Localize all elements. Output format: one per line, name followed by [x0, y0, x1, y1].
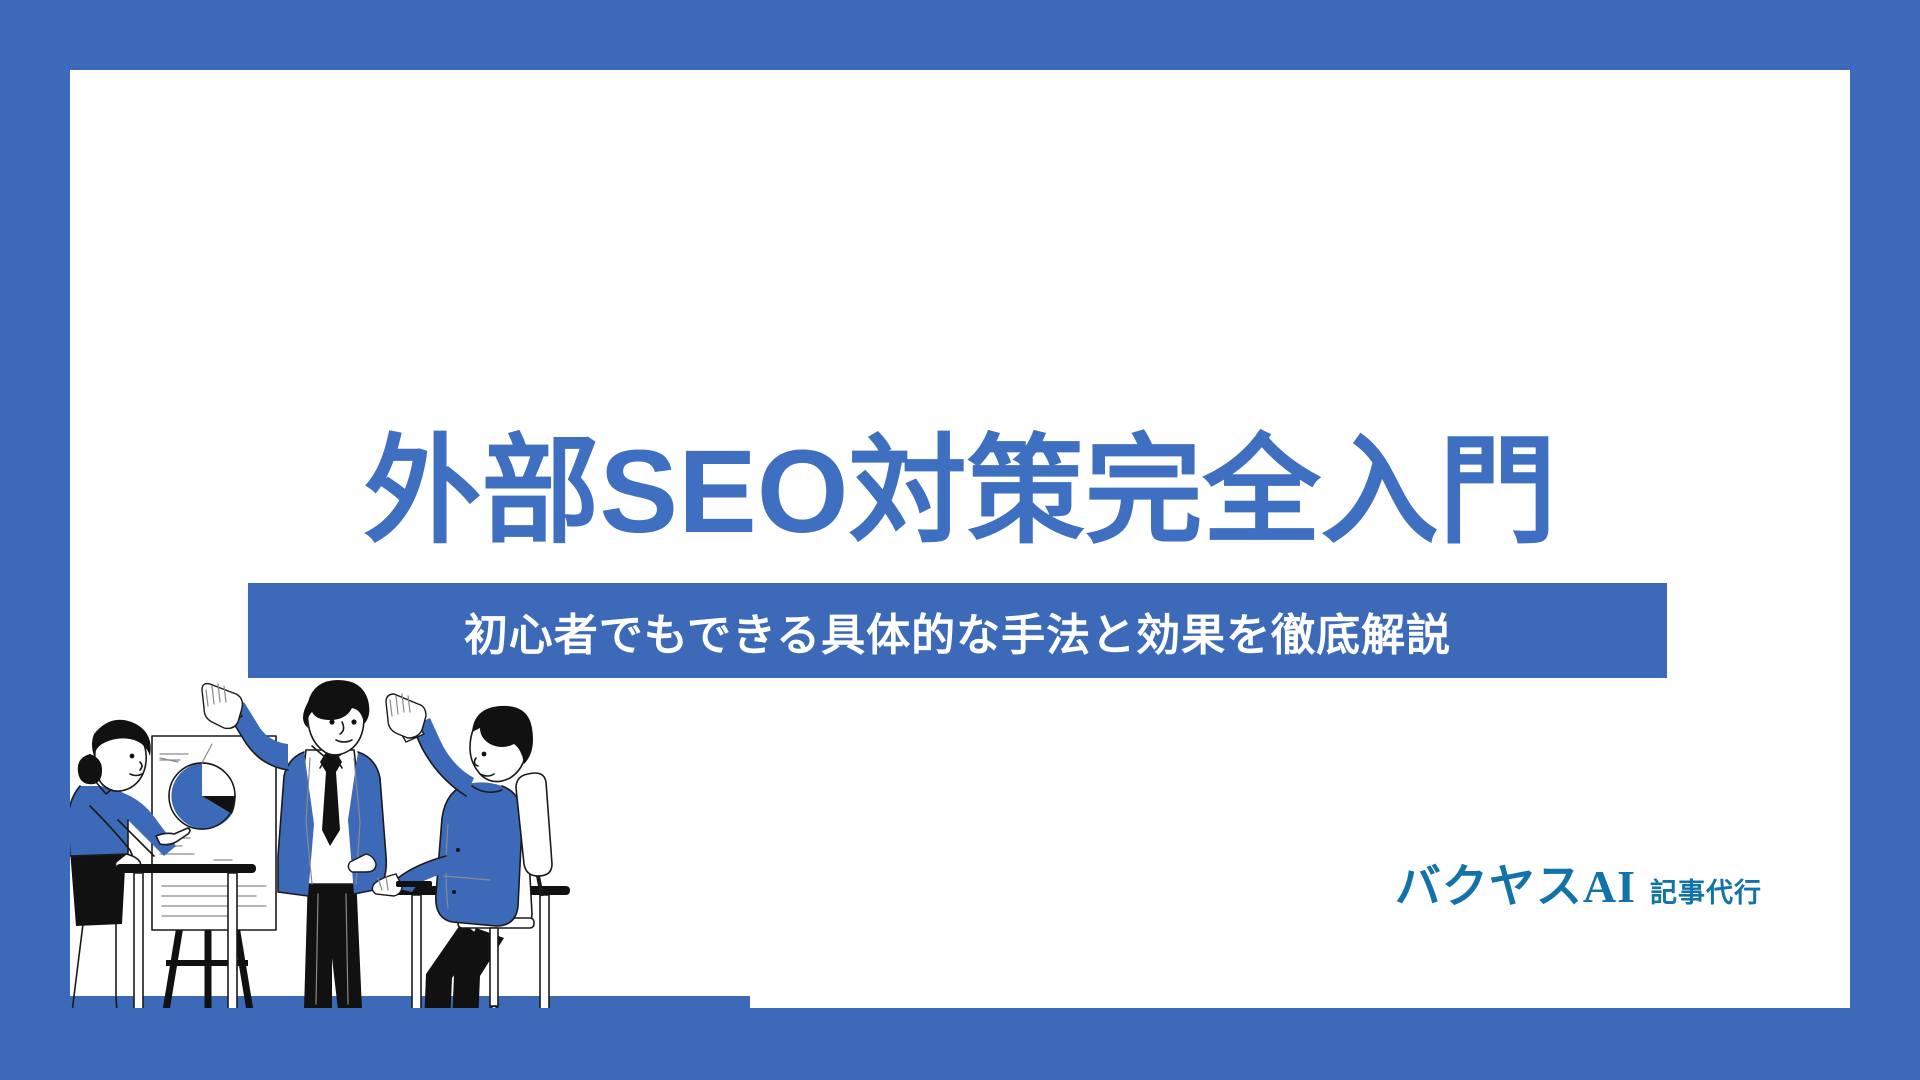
- slide-canvas: 外部SEO対策完全入門 初心者でもできる具体的な手法と効果を徹底解説 バクヤスA…: [0, 0, 1920, 1080]
- raised-hand-right: [386, 694, 426, 738]
- logo-service-text: 記事代行: [1650, 880, 1762, 907]
- subtitle-text: 初心者でもできる具体的な手法と効果を徹底解説: [464, 599, 1451, 663]
- page-title: 外部SEO対策完全入門: [70, 431, 1850, 555]
- team-presentation-illustration: .ln { fill:none; stroke:#1A1A1A; stroke-…: [70, 678, 750, 1008]
- brand-logo: バクヤスAI 記事代行: [1395, 864, 1762, 910]
- raised-hand-left: [202, 684, 242, 729]
- logo-brand-text: バクヤスAI: [1395, 864, 1636, 910]
- keyboard: [396, 881, 432, 887]
- slide-card: 外部SEO対策完全入門 初心者でもできる具体的な手法と効果を徹底解説 バクヤスA…: [70, 70, 1850, 1008]
- subtitle-band: 初心者でもできる具体的な手法と効果を徹底解説: [248, 583, 1667, 678]
- floor-band: [70, 996, 750, 1008]
- person-seated-at-desk-raising-hand: [372, 694, 534, 1008]
